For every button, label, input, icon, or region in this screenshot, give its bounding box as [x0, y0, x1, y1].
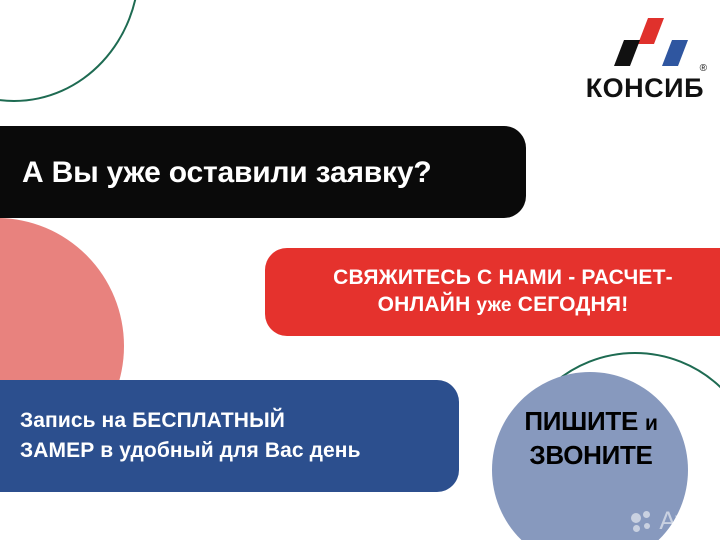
banner-free-measure: Запись на БЕСПЛАТНЫЙ ЗАМЕР в удобный для…: [0, 380, 459, 492]
decorative-ring-top-left: [0, 0, 140, 102]
konsib-logo-icon: [614, 18, 688, 68]
banner-measure-measurement: ЗАМЕР: [20, 439, 94, 462]
avito-dots-icon: [631, 511, 655, 533]
brand-wordmark: КОНСИБ: [586, 75, 704, 102]
banner-contact-text: СВЯЖИТЕСЬ С НАМИ - РАСЧЕТ- ОНЛАЙН уже СЕ…: [333, 265, 673, 319]
banner-question-text: А Вы уже оставили заявку?: [22, 156, 431, 189]
cta-write-and-call: ПИШИТЕ и ЗВОНИТЕ: [492, 404, 690, 473]
banner-measure-text: Запись на БЕСПЛАТНЫЙ ЗАМЕР в удобный для…: [20, 406, 361, 467]
banner-question: А Вы уже оставили заявку?: [0, 126, 526, 218]
banner-measure-convenient-day: в удобный для Вас день: [100, 439, 360, 462]
banner-contact-online: ОНЛАЙН: [378, 293, 471, 316]
cta-write: ПИШИТЕ: [524, 406, 638, 436]
avito-watermark-label: Avito: [659, 509, 712, 534]
banner-contact-line1: СВЯЖИТЕСЬ С НАМИ - РАСЧЕТ-: [333, 266, 673, 289]
banner-measure-signup: Запись на: [20, 409, 126, 432]
brand-logo: ® КОНСИБ: [574, 18, 706, 104]
banner-contact-already: уже: [477, 295, 512, 316]
cta-and: и: [645, 412, 658, 435]
banner-contact-today: СЕГОДНЯ!: [518, 293, 629, 316]
banner-measure-free: БЕСПЛАТНЫЙ: [132, 409, 285, 432]
banner-contact: СВЯЖИТЕСЬ С НАМИ - РАСЧЕТ- ОНЛАЙН уже СЕ…: [265, 248, 720, 336]
avito-watermark: Avito: [631, 509, 712, 534]
cta-call: ЗВОНИТЕ: [529, 440, 652, 470]
promo-poster: ® КОНСИБ А Вы уже оставили заявку? СВЯЖИ…: [0, 0, 720, 540]
